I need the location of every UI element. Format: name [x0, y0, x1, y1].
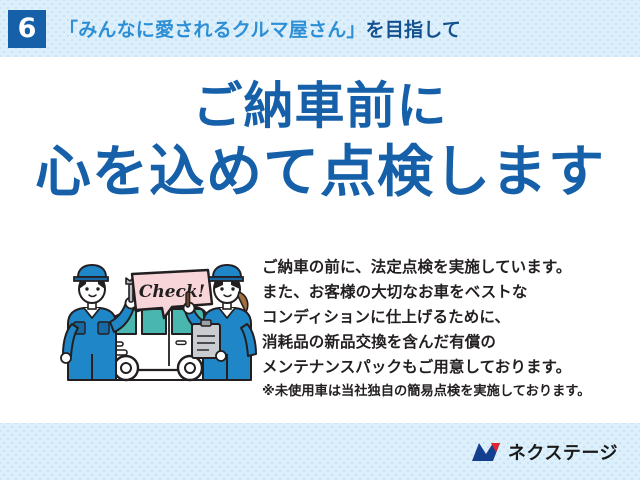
- header-title-quoted: 「みんなに愛されるクルマ屋さん」: [59, 20, 366, 41]
- header-title: 「みんなに愛されるクルマ屋さん」を目指して: [59, 15, 461, 42]
- mechanics-illustration: Check!: [60, 262, 260, 402]
- body-copy-line: メンテナンスパックもご用意しております。: [262, 355, 622, 380]
- header-bar: 6 「みんなに愛されるクルマ屋さん」を目指して: [0, 0, 640, 57]
- nextage-n-mark-icon: [471, 441, 501, 463]
- body-copy-line: また、お客様の大切なお車をベストな: [262, 280, 622, 305]
- section-number-badge: 6: [8, 10, 46, 48]
- promo-banner: 6 「みんなに愛されるクルマ屋さん」を目指して ご納車前に 心を込めて点検します…: [0, 0, 640, 480]
- main-content: ご納車前に 心を込めて点検します ご納車の前に、法定点検を実施しています。 また…: [0, 57, 640, 423]
- body-copy-line: ご納車の前に、法定点検を実施しています。: [262, 255, 622, 280]
- body-copy-line: 消耗品の新品交換を含んだ有償の: [262, 330, 622, 355]
- headline-line-1: ご納車前に: [0, 77, 640, 136]
- body-copy-line: コンディションに仕上げるために、: [262, 305, 622, 330]
- headline-line-2: 心を込めて点検します: [0, 140, 640, 206]
- body-copy: ご納車の前に、法定点検を実施しています。 また、お客様の大切なお車をベストな コ…: [262, 255, 622, 381]
- body-footnote: ※未使用車は当社独自の簡易点検を実施しております。: [262, 380, 634, 399]
- footer-bar: ネクステージ: [0, 423, 640, 480]
- clipboard-icon: [192, 320, 220, 358]
- headline: ご納車前に 心を込めて点検します: [0, 77, 640, 206]
- header-title-tail: を目指して: [366, 20, 461, 41]
- brand-logo: ネクステージ: [471, 439, 618, 465]
- check-label: Check!: [139, 282, 205, 302]
- brand-logo-text: ネクステージ: [508, 439, 618, 465]
